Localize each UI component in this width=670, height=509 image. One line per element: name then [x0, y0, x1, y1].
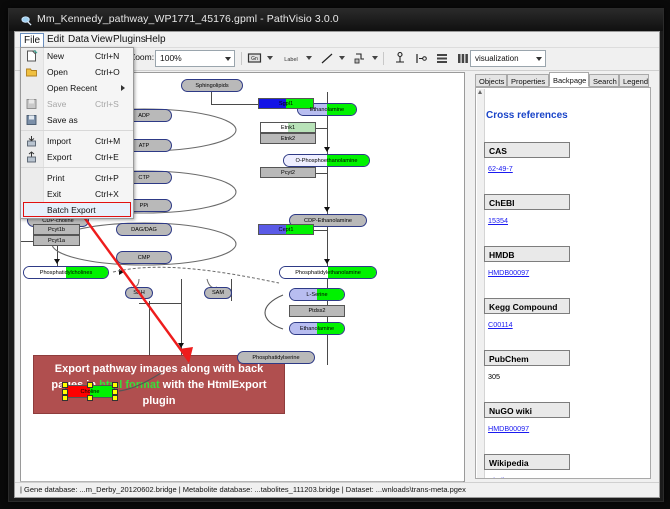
xref-db-cas: CAS	[484, 142, 570, 158]
xref-value-kegg-compound[interactable]: C00114	[488, 320, 513, 329]
metabolite-node-ethanolamine-2[interactable]: Ethanolamine	[289, 322, 345, 335]
import-icon	[25, 135, 38, 147]
scroll-up-icon[interactable]	[478, 90, 482, 94]
window-title: Mm_Kennedy_pathway_WP1771_45176.gpml - P…	[37, 13, 339, 25]
gene-node-ptdss2[interactable]: Ptdss2	[289, 305, 345, 317]
export-icon	[25, 151, 38, 163]
folder-open-icon	[25, 66, 38, 78]
node-label: CDP-Ethanolamine	[304, 218, 352, 224]
datanode-dropdown-icon[interactable]	[267, 56, 273, 60]
menu-item-label: Open	[47, 67, 68, 77]
menu-item-accelerator: Ctrl+O	[95, 67, 120, 77]
node-label: Sphingolipids	[195, 83, 228, 89]
menu-item-batch-export[interactable]: Batch Export	[21, 202, 133, 218]
metabolite-node-sphingolipids[interactable]: Sphingolipids	[181, 79, 243, 92]
tab-legend[interactable]: Legend	[619, 74, 649, 87]
menu-item-save[interactable]: SaveCtrl+S	[21, 96, 133, 112]
metabolite-node-ptd-serine[interactable]: Phosphatidylserine	[237, 351, 315, 364]
xref-db-wikipedia: Wikipedia	[484, 454, 570, 470]
side-panel: ObjectsPropertiesBackpageSearchLegend Cr…	[465, 72, 653, 480]
chevron-down-icon-2	[536, 57, 542, 61]
menu-item-label: Import	[47, 136, 71, 146]
node-label: Phosphatidylcholines	[40, 270, 93, 276]
menu-item-accelerator: Ctrl+S	[95, 99, 119, 109]
node-label: Etnk1	[281, 125, 295, 131]
menu-item-label: Open Recent	[47, 83, 97, 93]
node-label: Sgpl1	[279, 101, 293, 107]
node-label: Phosphatidylserine	[252, 355, 299, 361]
anchor-tool-icon[interactable]	[393, 51, 407, 66]
line-dropdown-icon[interactable]	[339, 56, 345, 60]
node-label: Pcyt2	[281, 170, 295, 176]
tab-objects[interactable]: Objects	[475, 74, 507, 87]
gene-node-etnk2[interactable]: Etnk2	[260, 133, 316, 144]
menu-separator	[21, 167, 133, 168]
node-label: O-Phosphoethanolamine	[296, 158, 358, 164]
node-label: PPi	[140, 203, 149, 209]
menu-item-open-recent[interactable]: Open Recent	[21, 80, 133, 96]
menu-item-export[interactable]: ExportCtrl+E	[21, 149, 133, 165]
node-label: CMP	[138, 255, 150, 261]
menu-item-label: Save	[47, 99, 66, 109]
visualization-value: visualization	[475, 54, 519, 63]
gene-node-pcyt1a[interactable]: Pcyt1a	[33, 235, 80, 246]
menu-separator	[21, 130, 133, 131]
metabolite-node-ptd-cholines[interactable]: Phosphatidylcholines	[23, 266, 109, 279]
node-label: Cept1	[279, 227, 294, 233]
menu-bar: File Edit Data View Plugins Help	[15, 32, 659, 48]
datanode-tool-icon[interactable]: Gn	[247, 51, 262, 66]
node-label: ATP	[139, 143, 149, 149]
gene-node-pcyt1b[interactable]: Pcyt1b	[33, 224, 80, 235]
align-columns-icon[interactable]	[456, 51, 470, 66]
selection-handle[interactable]	[112, 395, 118, 401]
label-dropdown-icon[interactable]	[306, 56, 312, 60]
node-label: ADP	[138, 113, 150, 119]
interaction-dropdown-icon[interactable]	[372, 56, 378, 60]
gene-node-sgpl1[interactable]: Sgpl1	[258, 98, 314, 109]
metabolite-node-cmp[interactable]: CMP	[116, 251, 172, 264]
xref-value-pubchem: 305	[488, 372, 500, 381]
gene-node-pcyt2[interactable]: Pcyt2	[260, 167, 316, 178]
submenu-arrow-icon	[121, 85, 125, 91]
tab-properties[interactable]: Properties	[507, 74, 549, 87]
pathvisio-app-icon	[21, 15, 32, 26]
align-rows-icon[interactable]	[435, 51, 449, 66]
highlight-box	[23, 202, 131, 217]
backpage-panel: Cross references CAS62-49-7ChEBI15354HMD…	[475, 87, 651, 479]
xref-value-nugo-wiki[interactable]: HMDB00097	[488, 424, 529, 433]
align-left-icon[interactable]	[414, 51, 428, 66]
selection-handle[interactable]	[112, 389, 118, 395]
xref-db-chebi: ChEBI	[484, 194, 570, 210]
selection-handle[interactable]	[87, 395, 93, 401]
menu-item-accelerator: Ctrl+P	[95, 173, 119, 183]
svg-text:Gn: Gn	[251, 56, 258, 62]
status-bar: | Gene database: ...m_Derby_20120602.bri…	[15, 482, 659, 497]
node-label: Phosphatidylethanolamine	[295, 270, 361, 276]
node-label: Choline	[81, 389, 100, 395]
svg-text:Label: Label	[284, 57, 297, 63]
xref-value-cas[interactable]: 62-49-7	[488, 164, 513, 173]
menu-item-label: Export	[47, 152, 72, 162]
line-tool-icon[interactable]	[320, 51, 334, 66]
xref-value-wikipedia[interactable]: Choline	[488, 476, 512, 479]
menu-item-print[interactable]: PrintCtrl+P	[21, 170, 133, 186]
menu-item-label: Print	[47, 173, 64, 183]
selection-handle[interactable]	[62, 382, 68, 388]
menu-item-import[interactable]: ImportCtrl+M	[21, 133, 133, 149]
node-label: Pcyt1b	[48, 227, 65, 233]
node-label: L-Serine	[306, 292, 327, 298]
selection-handle[interactable]	[112, 382, 118, 388]
node-label: DAG/DAG	[131, 227, 157, 233]
menu-item-open[interactable]: OpenCtrl+O	[21, 64, 133, 80]
tab-backpage[interactable]: Backpage	[549, 72, 589, 87]
menu-file[interactable]: File	[20, 33, 44, 48]
screenshot-root: Mm_Kennedy_pathway_WP1771_45176.gpml - P…	[0, 0, 670, 509]
menu-item-exit[interactable]: ExitCtrl+X	[21, 186, 133, 202]
menu-help[interactable]: Help	[141, 33, 170, 46]
tab-search[interactable]: Search	[589, 74, 619, 87]
menu-item-label: Exit	[47, 189, 61, 199]
selection-handle[interactable]	[87, 382, 93, 388]
metabolite-node-l-serine[interactable]: L-Serine	[289, 288, 345, 301]
status-text: | Gene database: ...m_Derby_20120602.bri…	[20, 485, 466, 494]
zoom-combobox[interactable]: 100%	[155, 50, 235, 67]
client-area: File Edit Data View Plugins Help Zoom: 1…	[14, 31, 660, 498]
file-menu-dropdown[interactable]: NewCtrl+NOpenCtrl+OOpen RecentSaveCtrl+S…	[20, 47, 134, 219]
xref-db-pubchem: PubChem	[484, 350, 570, 366]
metabolite-node-o-phospho-etn[interactable]: O-Phosphoethanolamine	[283, 154, 370, 167]
node-label: Etnk2	[281, 136, 295, 142]
application-window: Mm_Kennedy_pathway_WP1771_45176.gpml - P…	[8, 8, 664, 502]
menu-item-label: Save as	[47, 115, 78, 125]
save-as-icon	[25, 114, 38, 126]
node-label: Ethanolamine	[310, 107, 344, 113]
xref-db-nugo-wiki: NuGO wiki	[484, 402, 570, 418]
title-bar: Mm_Kennedy_pathway_WP1771_45176.gpml - P…	[9, 9, 663, 31]
node-label: Ptdss2	[308, 308, 325, 314]
node-label: Ethanolamine	[300, 326, 334, 332]
metabolite-node-sah[interactable]: SAH	[125, 287, 153, 299]
selection-handle[interactable]	[62, 395, 68, 401]
metabolite-node-dag-dag[interactable]: DAG/DAG	[116, 223, 172, 236]
node-label: CTP	[138, 175, 149, 181]
interaction-tool-icon[interactable]	[353, 51, 367, 66]
xref-db-kegg-compound: Kegg Compound	[484, 298, 570, 314]
xref-value-hmdb[interactable]: HMDB00097	[488, 268, 529, 277]
cross-references-heading: Cross references	[486, 110, 568, 121]
toolbar-separator	[241, 52, 242, 65]
menu-item-label: New	[47, 51, 64, 61]
chevron-down-icon	[225, 57, 231, 61]
zoom-value: 100%	[160, 53, 182, 63]
menu-item-new[interactable]: NewCtrl+N	[21, 48, 133, 64]
menu-item-save-as[interactable]: Save as	[21, 112, 133, 128]
menu-item-accelerator: Ctrl+E	[95, 152, 119, 162]
node-label: SAM	[212, 290, 224, 296]
node-label: Pcyt1a	[48, 238, 65, 244]
new-file-icon	[25, 50, 38, 62]
toolbar-separator-2	[383, 52, 384, 65]
menu-item-accelerator: Ctrl+N	[95, 51, 119, 61]
save-icon	[25, 98, 38, 110]
visualization-combobox[interactable]: visualization	[470, 50, 546, 67]
xref-db-hmdb: HMDB	[484, 246, 570, 262]
node-label: SAH	[133, 290, 145, 296]
xref-value-chebi[interactable]: 15354	[488, 216, 508, 225]
metabolite-node-sam[interactable]: SAM	[204, 287, 232, 299]
menu-item-accelerator: Ctrl+M	[95, 136, 120, 146]
selection-handle[interactable]	[62, 389, 68, 395]
gene-node-etnk1[interactable]: Etnk1	[260, 122, 316, 133]
label-tool-icon[interactable]: Label	[281, 51, 301, 66]
metabolite-node-ptd-etn[interactable]: Phosphatidylethanolamine	[279, 266, 377, 279]
gene-node-cept1[interactable]: Cept1	[258, 224, 314, 235]
menu-item-accelerator: Ctrl+X	[95, 189, 119, 199]
